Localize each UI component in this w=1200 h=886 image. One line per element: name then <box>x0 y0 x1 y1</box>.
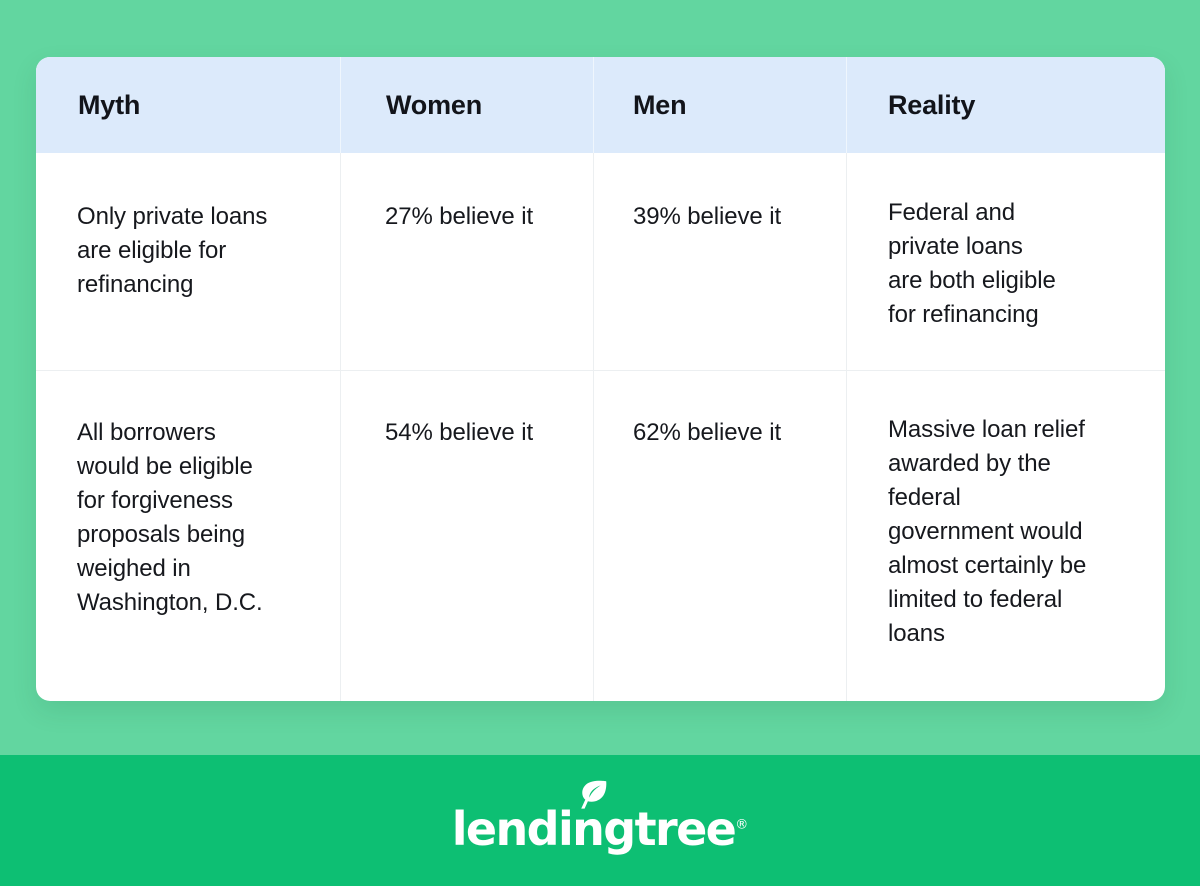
cell-men-text: 39% believe it <box>633 200 781 234</box>
column-header-men: Men <box>593 57 846 153</box>
page-background: Myth Women Men Reality Only private loan… <box>0 0 1200 886</box>
lendingtree-wordmark: lendingtree® <box>452 806 749 852</box>
table-row: Only private loans are eligible for refi… <box>36 153 1165 370</box>
column-header-women-label: Women <box>386 92 482 119</box>
table-row: All borrowers would be eligible for forg… <box>36 370 1165 701</box>
cell-reality-text: Federal and private loans are both eligi… <box>888 196 1056 332</box>
leaf-icon <box>580 780 608 810</box>
lendingtree-logo: lendingtree® <box>452 790 749 852</box>
cell-myth-text: All borrowers would be eligible for forg… <box>77 416 263 620</box>
cell-women: 27% believe it <box>340 153 593 370</box>
cell-myth-text: Only private loans are eligible for refi… <box>77 200 267 302</box>
column-header-men-label: Men <box>633 92 686 119</box>
cell-women-text: 54% believe it <box>385 416 533 450</box>
column-header-myth: Myth <box>36 57 340 153</box>
cell-myth: All borrowers would be eligible for forg… <box>36 371 340 701</box>
column-header-reality: Reality <box>846 57 1165 153</box>
cell-myth: Only private loans are eligible for refi… <box>36 153 340 370</box>
cell-reality: Massive loan relief awarded by the feder… <box>846 371 1165 701</box>
column-header-reality-label: Reality <box>888 92 975 119</box>
comparison-table: Myth Women Men Reality Only private loan… <box>36 57 1165 701</box>
footer-band: lendingtree® <box>0 755 1200 886</box>
table-body: Only private loans are eligible for refi… <box>36 153 1165 701</box>
cell-women-text: 27% believe it <box>385 200 533 234</box>
column-header-myth-label: Myth <box>78 92 140 119</box>
cell-men: 39% believe it <box>593 153 846 370</box>
cell-men-text: 62% believe it <box>633 416 781 450</box>
cell-women: 54% believe it <box>340 371 593 701</box>
myth-reality-card: Myth Women Men Reality Only private loan… <box>36 57 1165 701</box>
cell-reality-text: Massive loan relief awarded by the feder… <box>888 413 1086 651</box>
cell-men: 62% believe it <box>593 371 846 701</box>
table-header-row: Myth Women Men Reality <box>36 57 1165 153</box>
cell-reality: Federal and private loans are both eligi… <box>846 153 1165 370</box>
lendingtree-wordmark-text: lendingtree <box>452 802 736 856</box>
column-header-women: Women <box>340 57 593 153</box>
registered-mark: ® <box>735 817 748 832</box>
